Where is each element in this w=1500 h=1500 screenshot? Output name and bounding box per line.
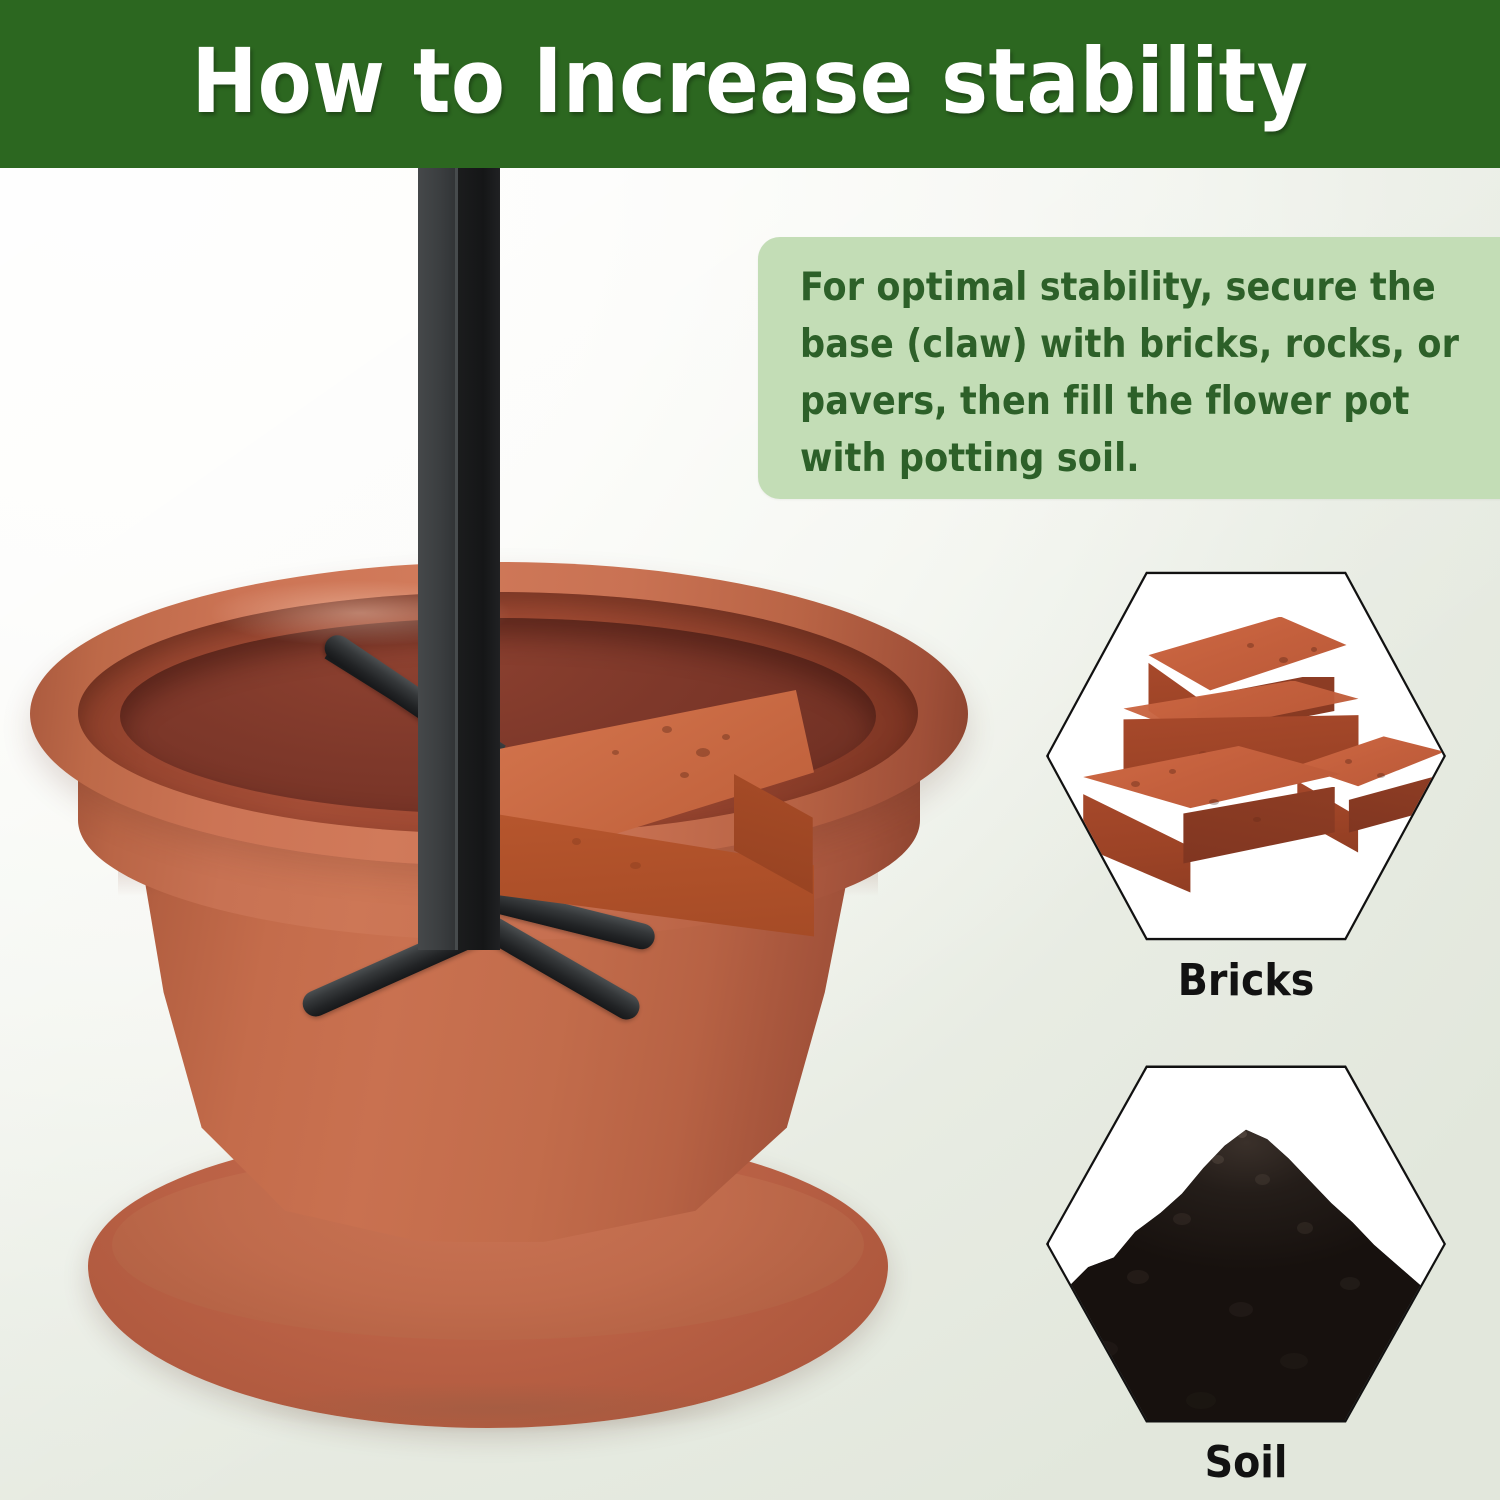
post-right-face [458,168,500,950]
material-card-soil[interactable]: Soil [1046,1060,1446,1428]
header-banner: How to Increase stability [0,0,1500,168]
tip-callout-box: For optimal stability, secure the base (… [758,237,1500,499]
tip-callout-text: For optimal stability, secure the base (… [800,259,1464,487]
material-card-soil-label: Soil [1046,1438,1446,1488]
page-title: How to Increase stability [15,28,1485,134]
hexagon-frame-bricks [1046,566,1446,946]
hexagon-frame-soil [1046,1060,1446,1428]
material-card-bricks-label: Bricks [1046,956,1446,1006]
material-card-bricks[interactable]: Bricks [1046,566,1446,946]
post-left-face [418,168,458,950]
ground-shadow [150,1372,840,1444]
brick-front [1073,745,1341,893]
infographic-page: How to Increase stability [0,0,1500,1500]
bricks-photo-icon [1049,569,1444,944]
soil-photo-icon [1049,1063,1444,1426]
soil-mound [1049,1117,1444,1426]
